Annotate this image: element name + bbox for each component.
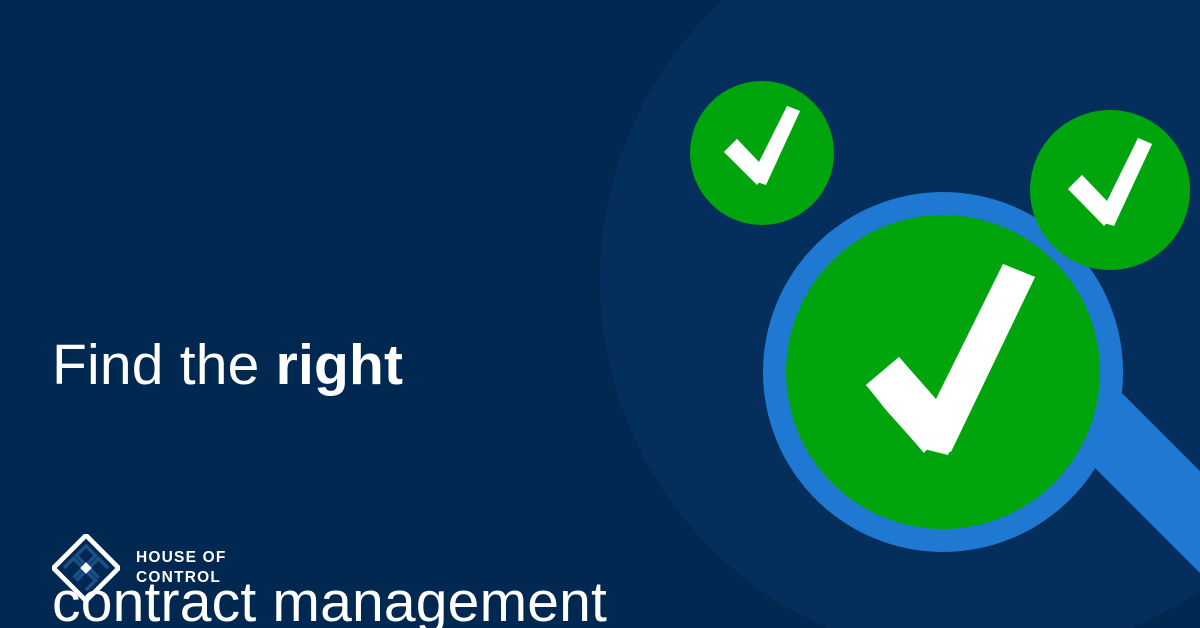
promo-banner: Find the right contract management syste…	[0, 0, 1200, 628]
brand-logo-line-2: CONTROL	[136, 568, 227, 588]
brand-logo-line-1: HOUSE OF	[136, 548, 227, 568]
brand-logo-text: HOUSE OF CONTROL	[136, 548, 227, 588]
house-of-control-diamond-icon	[52, 534, 120, 602]
headline-emphasis: right	[276, 333, 404, 397]
headline-line-1: Find the right	[52, 326, 712, 405]
headline-line-1-prefix: Find the	[52, 333, 276, 397]
check-badge-top-right	[1030, 110, 1190, 270]
brand-logo[interactable]: HOUSE OF CONTROL	[52, 534, 227, 602]
